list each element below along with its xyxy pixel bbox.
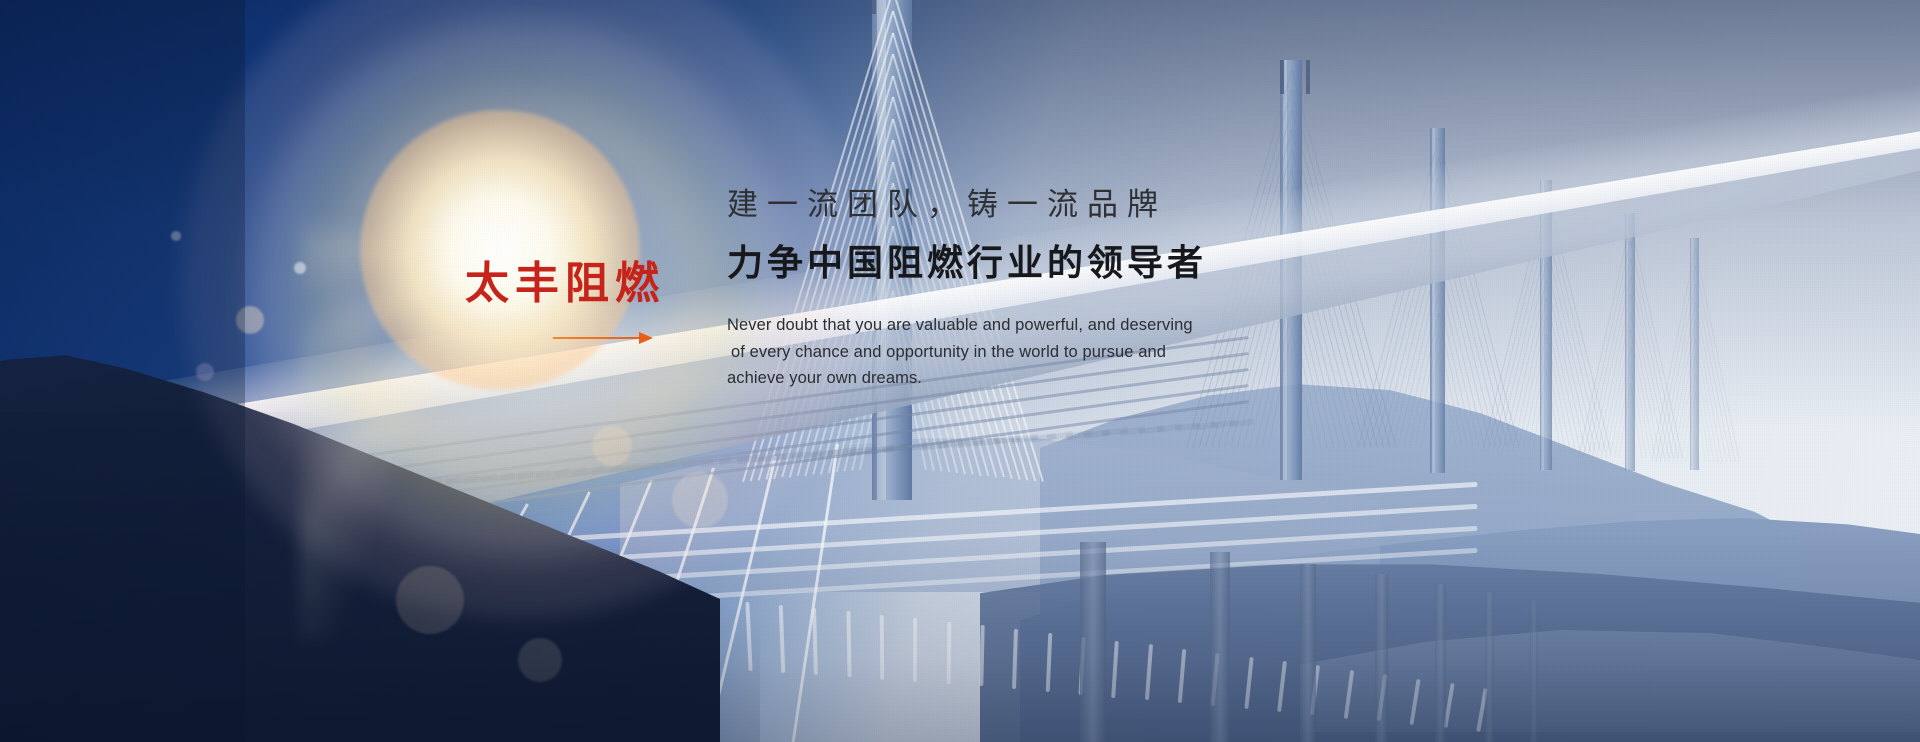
headline-primary: 建一流团队，铸一流品牌 [727,186,1427,225]
hero-banner: 太丰阻燃 建一流团队，铸一流品牌 力争中国阻燃行业的领导者 Never doub… [0,0,1920,742]
brand-logo-text: 太丰阻燃 [465,262,725,306]
banner-copy: 建一流团队，铸一流品牌 力争中国阻燃行业的领导者 Never doubt tha… [727,186,1427,392]
brand-logo[interactable]: 太丰阻燃 [465,262,725,344]
headline-secondary: 力争中国阻燃行业的领导者 [727,241,1427,284]
paragraph-line: Never doubt that you are valuable and po… [727,312,1287,339]
arrow-shaft [553,337,641,339]
banner-content: 太丰阻燃 建一流团队，铸一流品牌 力争中国阻燃行业的领导者 Never doub… [0,0,1920,742]
arrow-head [639,332,653,344]
right-arrow-icon [553,332,653,344]
paragraph-line: achieve your own dreams. [727,365,1287,392]
paragraph-line: of every chance and opportunity in the w… [727,339,1287,366]
banner-paragraph: Never doubt that you are valuable and po… [727,312,1287,392]
